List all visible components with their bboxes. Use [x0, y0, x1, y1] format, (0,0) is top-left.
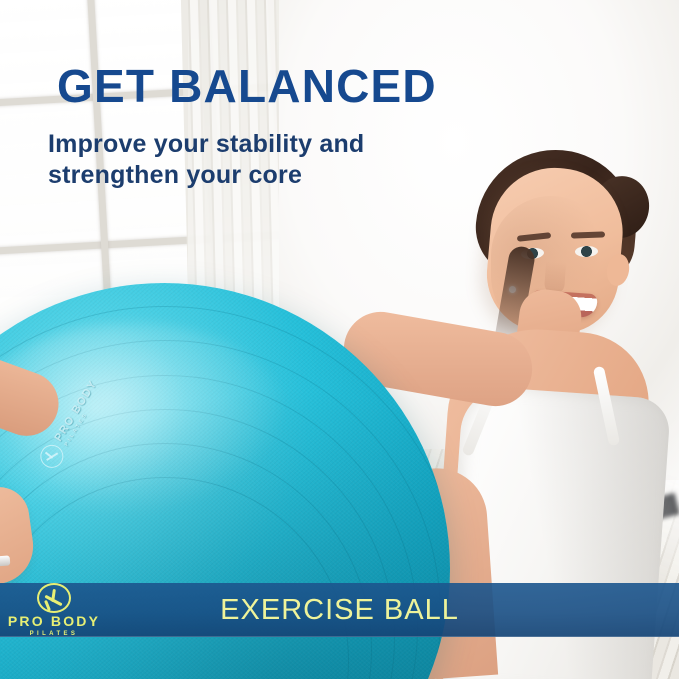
subheading: Improve your stability and strengthen yo… — [48, 129, 364, 190]
subheading-line-2: strengthen your core — [48, 160, 364, 191]
eyebrow-right — [571, 231, 605, 238]
bottom-banner: PRO BODY PILATES EXERCISE BALL — [0, 583, 679, 637]
product-lifestyle-image: PRO BODY PILATES GET BALANCED Improve yo… — [0, 0, 679, 679]
emblem-leg — [44, 600, 51, 611]
brand-subtitle: PILATES — [30, 631, 79, 637]
brand-name: PRO BODY — [8, 614, 100, 628]
page-title: GET BALANCED — [57, 63, 437, 109]
finger-ring-jewelry — [0, 555, 10, 566]
brand-logo: PRO BODY PILATES — [0, 583, 108, 637]
product-name-banner: EXERCISE BALL — [108, 596, 679, 625]
subheading-line-1: Improve your stability and — [48, 129, 364, 160]
pilates-figure-circle-icon — [37, 583, 71, 613]
